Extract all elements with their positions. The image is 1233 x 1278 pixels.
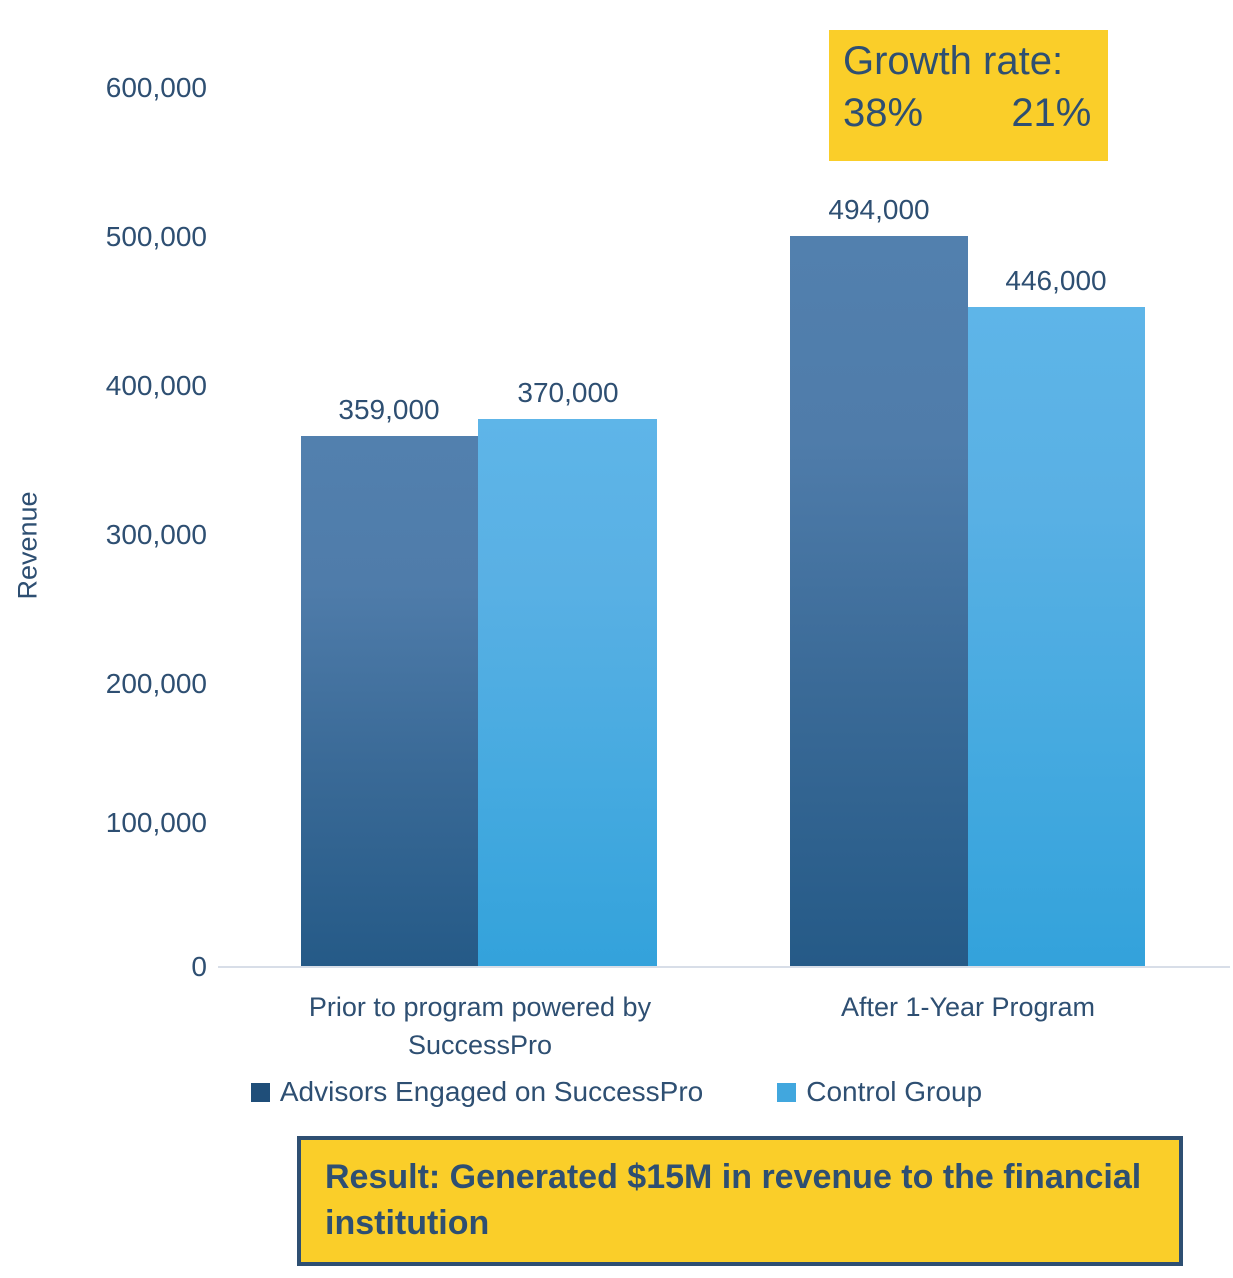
bar-series1-cat1[interactable]: [968, 307, 1145, 967]
bars-container: [0, 0, 1233, 967]
x-axis-category-label-0: Prior to program powered by SuccessPro: [240, 988, 720, 1064]
bar-series1-cat0[interactable]: [478, 419, 657, 967]
bar-series0-cat1[interactable]: [790, 236, 968, 967]
bar-value-label-series1-cat0: 370,000: [448, 379, 688, 407]
legend-swatch-icon-series1: [777, 1083, 796, 1102]
legend-label-series1: Control Group: [806, 1076, 982, 1108]
legend-label-series0: Advisors Engaged on SuccessPro: [280, 1076, 703, 1108]
bar-series0-cat0[interactable]: [301, 436, 478, 967]
result-banner: Result: Generated $15M in revenue to the…: [297, 1136, 1183, 1266]
bar-value-label-series1-cat1: 446,000: [936, 267, 1176, 295]
legend-item-control-group[interactable]: Control Group: [777, 1076, 982, 1108]
x-axis-category-label-1: After 1-Year Program: [728, 988, 1208, 1026]
chart-legend: Advisors Engaged on SuccessPro Control G…: [0, 1076, 1233, 1108]
result-banner-text: Result: Generated $15M in revenue to the…: [325, 1154, 1159, 1246]
legend-swatch-icon-series0: [251, 1083, 270, 1102]
x-axis-baseline: [218, 966, 1230, 968]
bar-chart: Revenue 600,000 500,000 400,000 300,000 …: [0, 0, 1233, 1000]
legend-item-advisors-engaged[interactable]: Advisors Engaged on SuccessPro: [251, 1076, 703, 1108]
bar-value-label-series0-cat1: 494,000: [759, 196, 999, 224]
